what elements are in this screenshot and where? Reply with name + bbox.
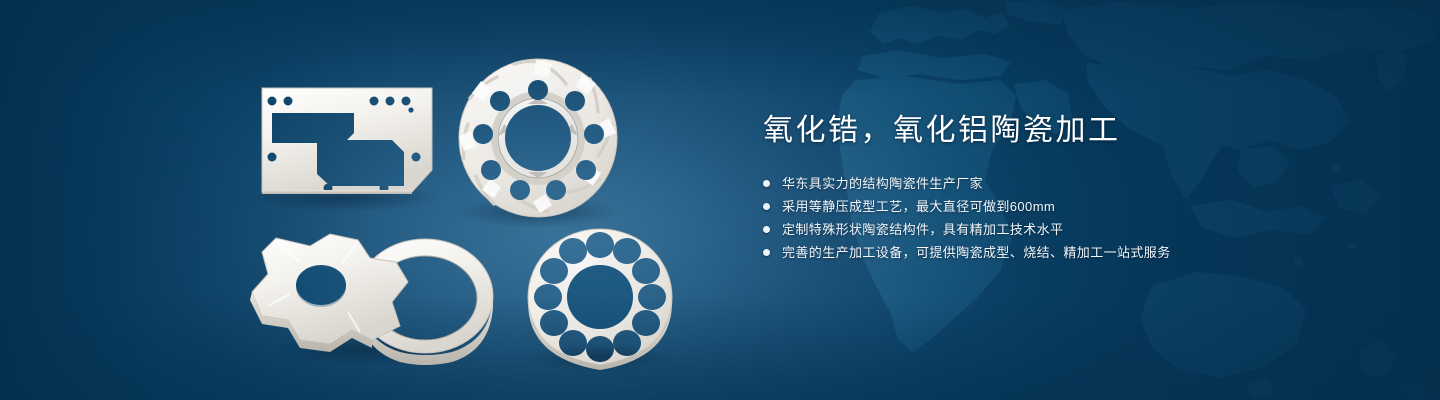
- list-item: 采用等静压成型工艺，最大直径可做到600mm: [763, 195, 1403, 218]
- banner-copy: 氧化锆，氧化铝陶瓷加工 华东具实力的结构陶瓷件生产厂家 采用等静压成型工艺，最大…: [763, 112, 1403, 264]
- feature-text: 采用等静压成型工艺，最大直径可做到600mm: [782, 195, 1055, 218]
- promo-banner: 氧化锆，氧化铝陶瓷加工 华东具实力的结构陶瓷件生产厂家 采用等静压成型工艺，最大…: [0, 0, 1440, 400]
- ceramic-perforated-disc: [528, 229, 672, 370]
- ceramic-impeller-disc: [459, 59, 617, 217]
- dot-bullet-icon: [763, 226, 770, 233]
- ceramic-flat-plate: [262, 88, 432, 194]
- dot-bullet-icon: [763, 249, 770, 256]
- dot-bullet-icon: [763, 203, 770, 210]
- feature-text: 华东具实力的结构陶瓷件生产厂家: [782, 172, 983, 195]
- feature-text: 定制特殊形状陶瓷结构件，具有精加工技术水平: [782, 218, 1063, 241]
- page-title: 氧化锆，氧化铝陶瓷加工: [763, 112, 1403, 150]
- list-item: 定制特殊形状陶瓷结构件，具有精加工技术水平: [763, 218, 1403, 241]
- list-item: 完善的生产加工设备，可提供陶瓷成型、烧结、精加工一站式服务: [763, 241, 1403, 264]
- feature-list: 华东具实力的结构陶瓷件生产厂家 采用等静压成型工艺，最大直径可做到600mm 定…: [763, 172, 1403, 264]
- list-item: 华东具实力的结构陶瓷件生产厂家: [763, 172, 1403, 195]
- product-images: [0, 0, 760, 400]
- feature-text: 完善的生产加工设备，可提供陶瓷成型、烧结、精加工一站式服务: [782, 241, 1171, 264]
- dot-bullet-icon: [763, 180, 770, 187]
